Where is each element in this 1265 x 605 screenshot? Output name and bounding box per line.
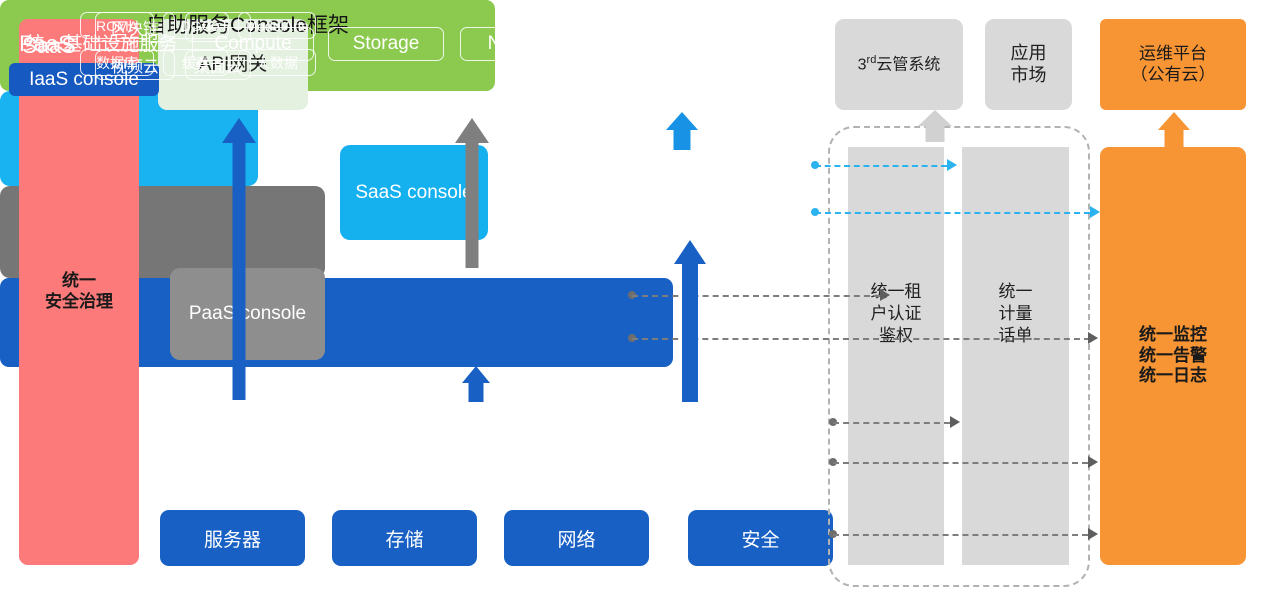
infra-item-label: Compute <box>214 33 291 55</box>
hardware-item-label: 安全 <box>741 525 779 552</box>
infra-item-cce[interactable]: CCE <box>600 27 712 61</box>
arrow-ops-main-to-ops-top-icon <box>1154 112 1194 148</box>
connector-infra-to-ops <box>833 462 1088 464</box>
arrow-infra-to-paas-icon <box>458 366 494 402</box>
app-market-label: 应用 市场 <box>1011 43 1047 87</box>
shared-service-column-metering <box>962 147 1069 565</box>
shared-service-column-tenant-auth <box>848 147 944 565</box>
arrow-infra-to-saas-icon <box>670 240 710 402</box>
arrow-head-icon <box>880 289 890 301</box>
arrow-paas-to-console-icon <box>455 118 489 268</box>
arrow-head-icon <box>950 416 960 428</box>
arrow-shared-to-third-party-cloud-icon <box>915 110 955 142</box>
connector-hardware-to-ops <box>833 534 1088 536</box>
hardware-item-label: 存储 <box>385 525 423 552</box>
unified-security-governance-label: 统一 安全治理 <box>45 271 113 312</box>
hardware-item-security: 安全 <box>688 510 833 566</box>
arrow-head-icon <box>1088 528 1098 540</box>
infra-item-network[interactable]: Network <box>460 27 585 61</box>
unified-infrastructure-service-label: 统一基础设施服务 <box>14 29 189 56</box>
connector-infra-to-tenant-auth <box>833 422 950 424</box>
arrow-infra-to-api-gateway-icon <box>222 118 256 400</box>
arrow-head-icon <box>1090 206 1100 218</box>
third-party-cloud-management-box: 3rd云管系统 <box>835 19 963 110</box>
connector-saas-to-ops <box>815 212 1090 214</box>
app-market-box: 应用 市场 <box>985 19 1072 110</box>
ops-platform-public-cloud-label: 运维平台 （公有云） <box>1131 44 1216 85</box>
hardware-item-label: 网络 <box>557 525 595 552</box>
hardware-item-server: 服务器 <box>160 510 305 566</box>
infra-item-label: Storage <box>353 33 420 55</box>
third-party-cloud-management-label: 3rd云管系统 <box>858 54 941 75</box>
arrow-head-icon <box>1088 456 1098 468</box>
architecture-diagram: 统一 安全治理 API网关 自助服务Console框架 IaaS console… <box>0 0 1265 605</box>
arrow-head-icon <box>947 159 957 171</box>
arrow-saas-to-saas-console-icon <box>665 112 699 148</box>
arrow-head-icon <box>1088 332 1098 344</box>
infra-item-label: Network <box>488 33 558 55</box>
hardware-item-network: 网络 <box>504 510 649 566</box>
infra-item-compute[interactable]: Compute <box>192 27 314 61</box>
unified-monitoring-label: 统一监控 统一告警 统一日志 <box>1139 325 1207 387</box>
hardware-item-storage: 存储 <box>332 510 477 566</box>
infra-item-storage[interactable]: Storage <box>328 27 444 61</box>
unified-monitoring-panel: 统一监控 统一告警 统一日志 <box>1100 147 1246 565</box>
connector-saas-to-metering <box>815 165 947 167</box>
unified-security-governance-panel: 统一 安全治理 <box>19 19 139 565</box>
ops-platform-public-cloud-box: 运维平台 （公有云） <box>1100 19 1246 110</box>
infra-item-label: CCE <box>636 33 676 55</box>
hardware-item-label: 服务器 <box>204 525 261 552</box>
